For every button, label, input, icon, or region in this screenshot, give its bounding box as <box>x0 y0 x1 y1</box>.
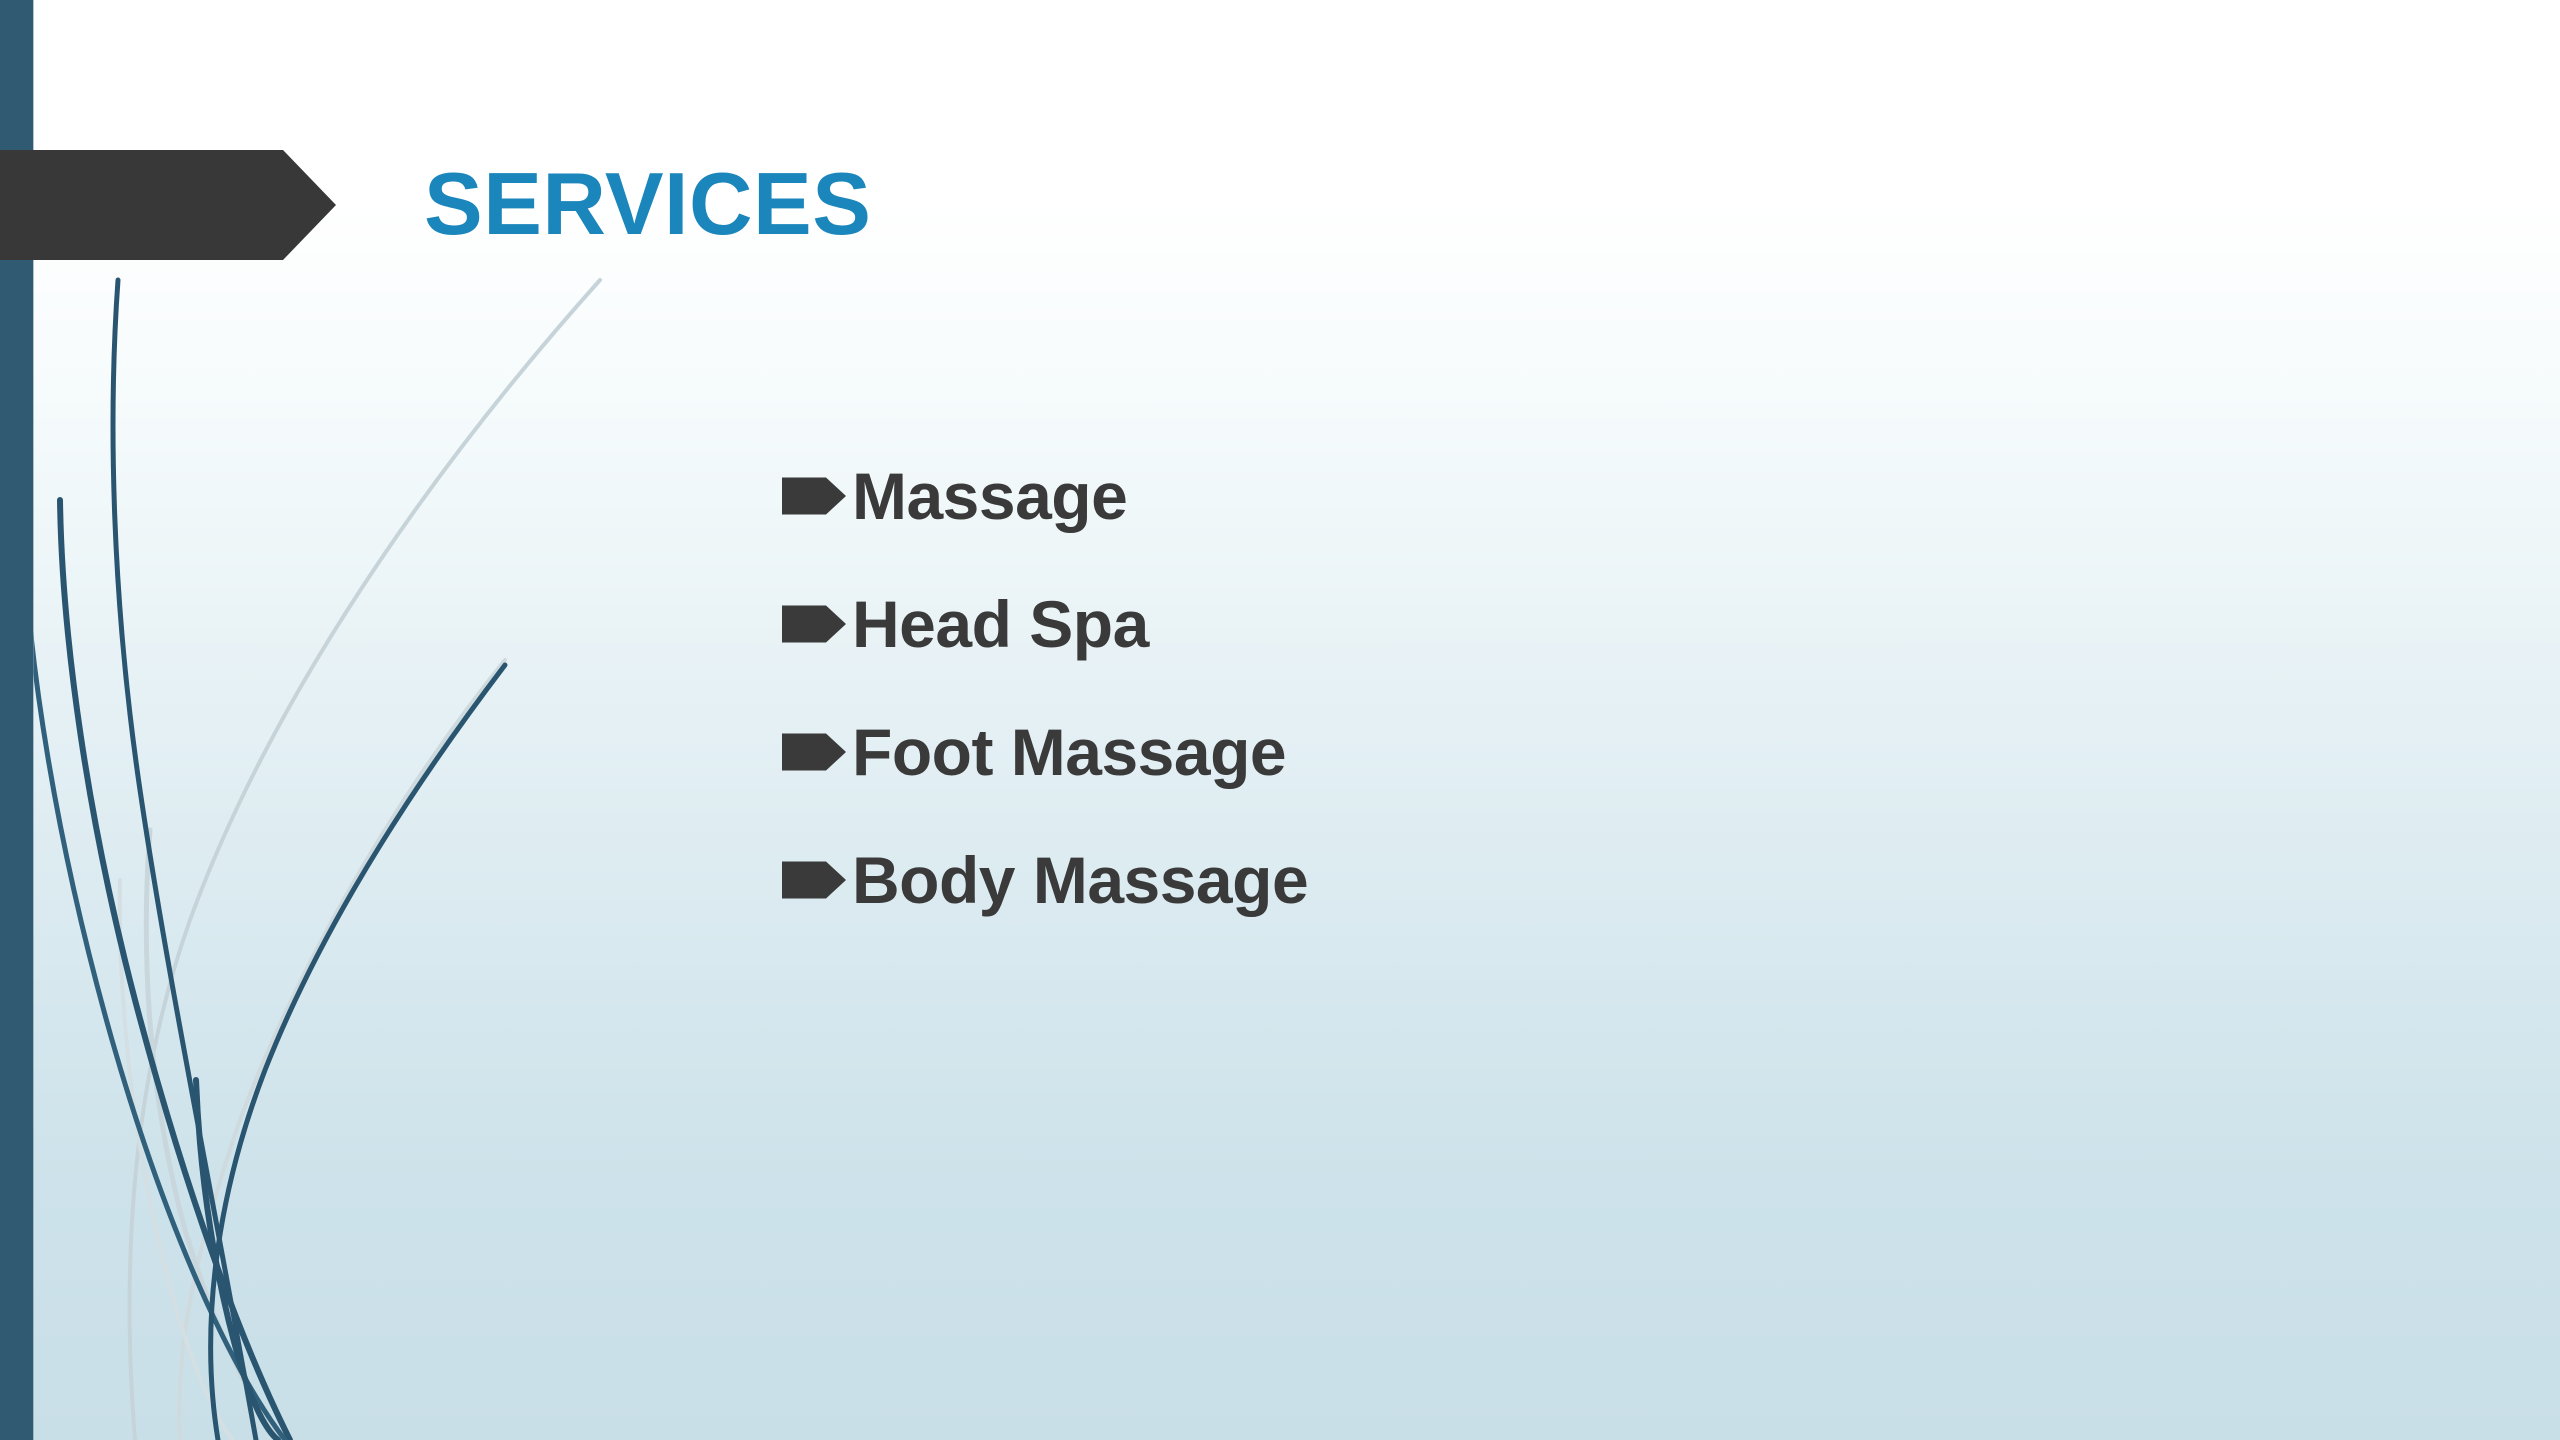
title-banner-shape <box>0 150 336 260</box>
presentation-slide: SERVICES Massage Head Spa Foot Massage B… <box>0 0 2560 1440</box>
list-item: Foot Massage <box>782 688 2282 816</box>
list-item: Body Massage <box>782 816 2282 944</box>
list-item: Head Spa <box>782 560 2282 688</box>
pennant-arrow-bullet-icon <box>782 731 846 773</box>
list-item-label: Body Massage <box>852 847 1308 913</box>
pennant-arrow-bullet-icon <box>782 603 846 645</box>
services-bullet-list: Massage Head Spa Foot Massage Body Massa… <box>782 432 2282 944</box>
list-item: Massage <box>782 432 2282 560</box>
pennant-arrow-bullet-icon <box>782 859 846 901</box>
list-item-label: Massage <box>852 463 1127 529</box>
pennant-arrow-bullet-icon <box>782 475 846 517</box>
list-item-label: Foot Massage <box>852 719 1286 785</box>
page-title: SERVICES <box>424 156 871 251</box>
list-item-label: Head Spa <box>852 591 1149 657</box>
